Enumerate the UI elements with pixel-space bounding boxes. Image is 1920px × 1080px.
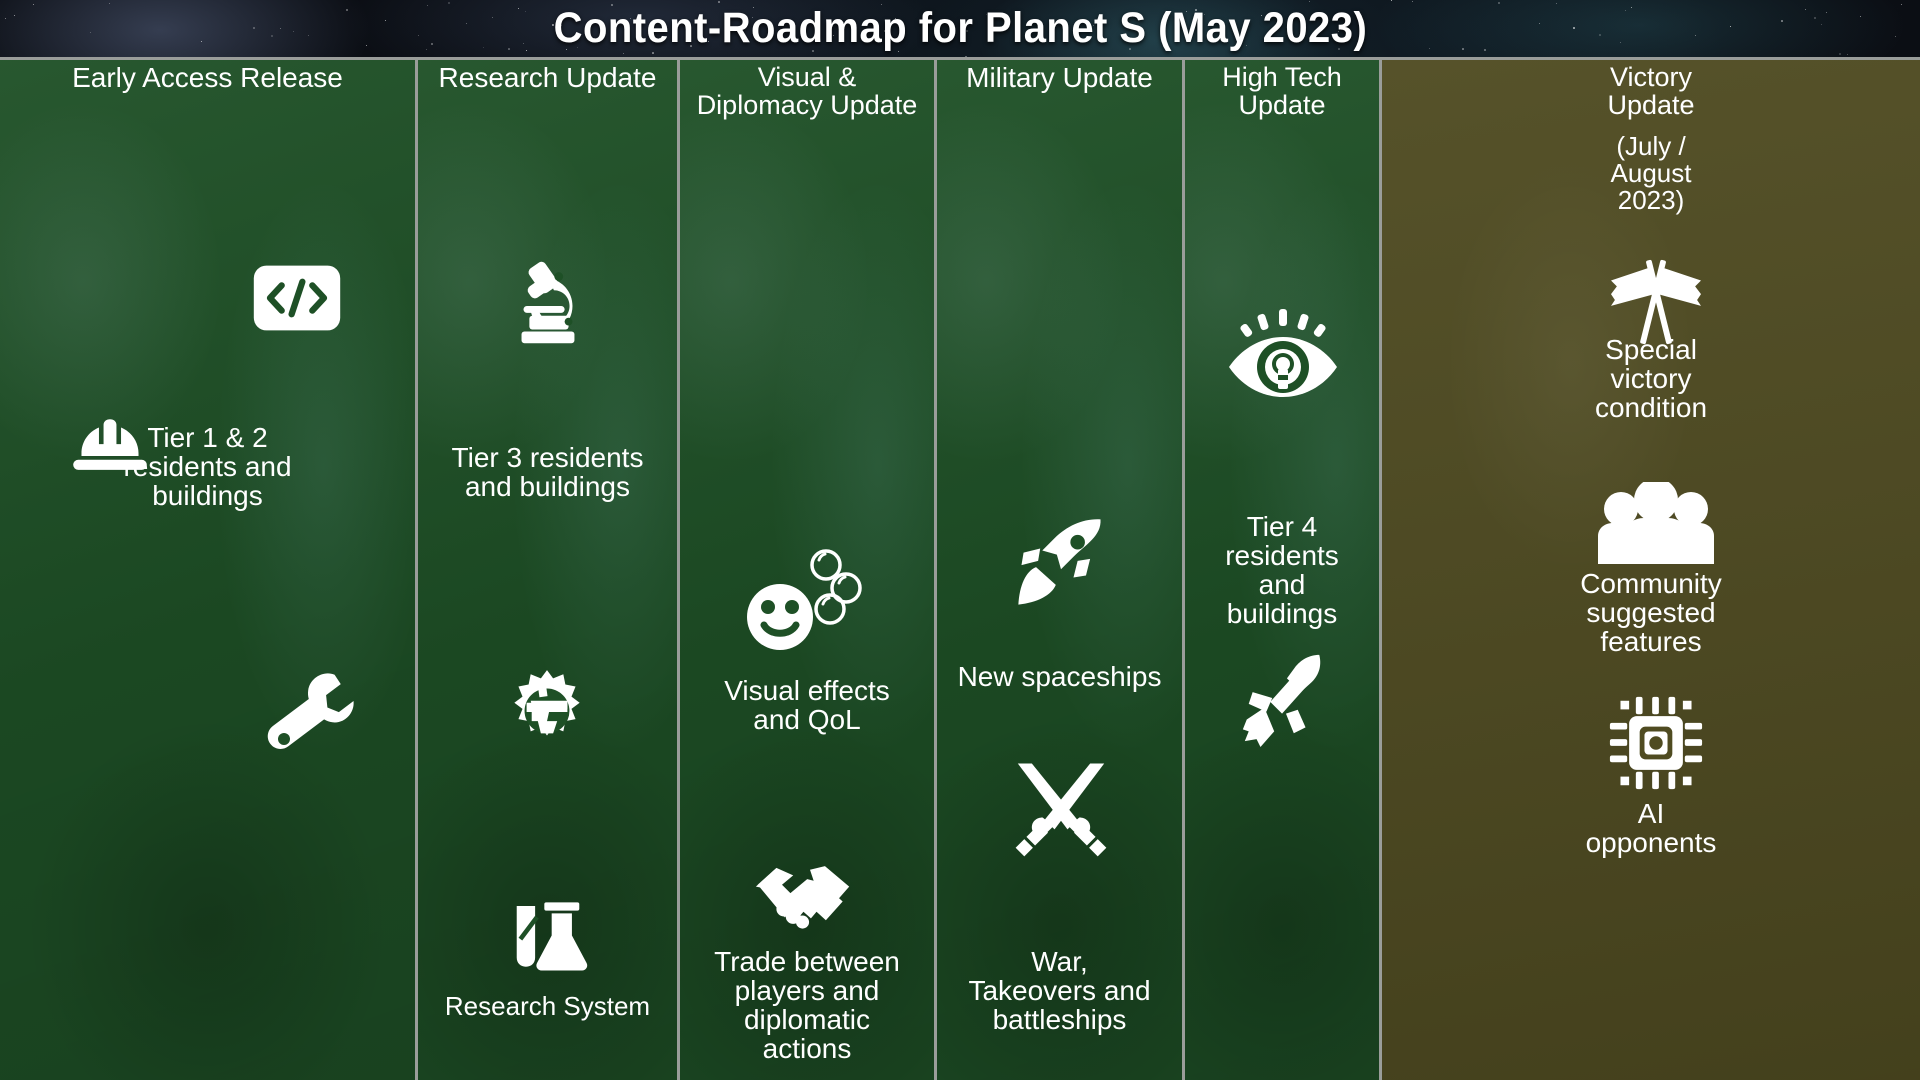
header-divider-rule [0,57,1920,60]
column-early-access-release[interactable]: Early Access Release [0,57,415,1080]
gear-pistol-icon [496,662,598,764]
c2-line2: and buildings [418,472,677,501]
c6-sub-line3: 2023) [1382,187,1920,214]
wrench-icon [255,663,355,763]
c3-line5: diplomatic [680,1005,934,1034]
c4-line1: New spaceships [958,661,1162,692]
c5-line4: buildings [1185,599,1379,628]
header-banner: Content-Roadmap for Planet S (May 2023) [0,0,1920,57]
column-heading-research: Research Update [418,57,677,93]
crossed-swords-icon [1007,757,1115,865]
c2-line1: Tier 3 residents [418,443,677,472]
column4-text-block2: War, Takeovers and battleships [937,947,1182,1034]
handshake-icon [754,855,866,935]
c6-head-line2: Update [1382,92,1920,120]
column6-text-block3: AI opponents [1382,799,1920,857]
column-victory-update[interactable]: Victory Update (July / August 2023) [1379,57,1920,1080]
c3-head-line2: Diplomacy Update [680,92,934,120]
column2-text-block1: Tier 3 residents and buildings [418,443,677,501]
c6-line8: opponents [1382,828,1920,857]
column6-text-block1: Special victory condition [1382,335,1920,422]
column-high-tech-update[interactable]: High Tech Update [1182,57,1379,1080]
roadmap-board: Content-Roadmap for Planet S (May 2023) … [0,0,1920,1080]
page-title: Content-Roadmap for Planet S (May 2023) [553,4,1367,53]
c1-line3: buildings [0,481,415,510]
flask-testtube-icon [502,895,594,987]
column4-text-spaceships: New spaceships [937,662,1182,691]
smiley-bubbles-icon [734,545,884,655]
c5-line2: residents [1185,541,1379,570]
missile-icon [1235,649,1333,747]
c1-line1: Tier 1 & 2 [0,423,415,452]
tech-eye-icon [1227,307,1339,399]
c6-sub-line2: August [1382,160,1920,187]
columns-container: Early Access Release [0,57,1920,1080]
c3-head-line1: Visual & [680,64,934,92]
c3-line3: Trade between [680,947,934,976]
cpu-chip-icon [1608,695,1704,791]
c4-line3: Takeovers and [937,976,1182,1005]
column2-text-research-system: Research System [418,993,677,1020]
column6-subheading: (July / August 2023) [1382,133,1920,214]
c5-line1: Tier 4 [1185,512,1379,541]
c3-line6: actions [680,1034,934,1063]
c3-line4: players and [680,976,934,1005]
c6-line5: suggested [1382,598,1920,627]
column-military-update[interactable]: Military Update New spaceships [934,57,1182,1080]
c6-head-line1: Victory [1382,64,1920,92]
column1-text-line1: Tier 1 & 2 residents and buildings [0,423,415,510]
c5-line3: and [1185,570,1379,599]
code-brackets-icon [252,253,342,343]
column3-text-block1: Visual effects and QoL [680,676,934,734]
c1-line2: residents and [0,452,415,481]
column-heading-victory: Victory Update [1382,57,1920,119]
c5-head-line1: High Tech [1185,64,1379,92]
rocket-icon [1009,511,1113,615]
c6-line7: AI [1382,799,1920,828]
microscope-icon [498,255,596,353]
c4-line2: War, [937,947,1182,976]
column3-text-block2: Trade between players and diplomatic act… [680,947,934,1063]
c4-line4: battleships [937,1005,1182,1034]
c6-line2: victory [1382,364,1920,393]
c6-line6: features [1382,627,1920,656]
column-heading-visual: Visual & Diplomacy Update [680,57,934,119]
c3-line2: and QoL [680,705,934,734]
column6-text-block2: Community suggested features [1382,569,1920,656]
column-heading-military: Military Update [937,57,1182,93]
column-research-update[interactable]: Research Update Tier 3 residents [415,57,677,1080]
c6-line1: Special [1382,335,1920,364]
c6-line3: condition [1382,393,1920,422]
c6-sub-line1: (July / [1382,133,1920,160]
c6-line4: Community [1382,569,1920,598]
column-heading-hightech: High Tech Update [1185,57,1379,119]
column5-text-block1: Tier 4 residents and buildings [1185,512,1379,628]
c3-line1: Visual effects [680,676,934,705]
column-visual-diplomacy-update[interactable]: Visual & Diplomacy Update [677,57,934,1080]
c2-line3: Research System [445,991,650,1021]
column-heading-early-access: Early Access Release [0,57,415,93]
c5-head-line2: Update [1185,92,1379,120]
people-group-icon [1594,482,1718,568]
